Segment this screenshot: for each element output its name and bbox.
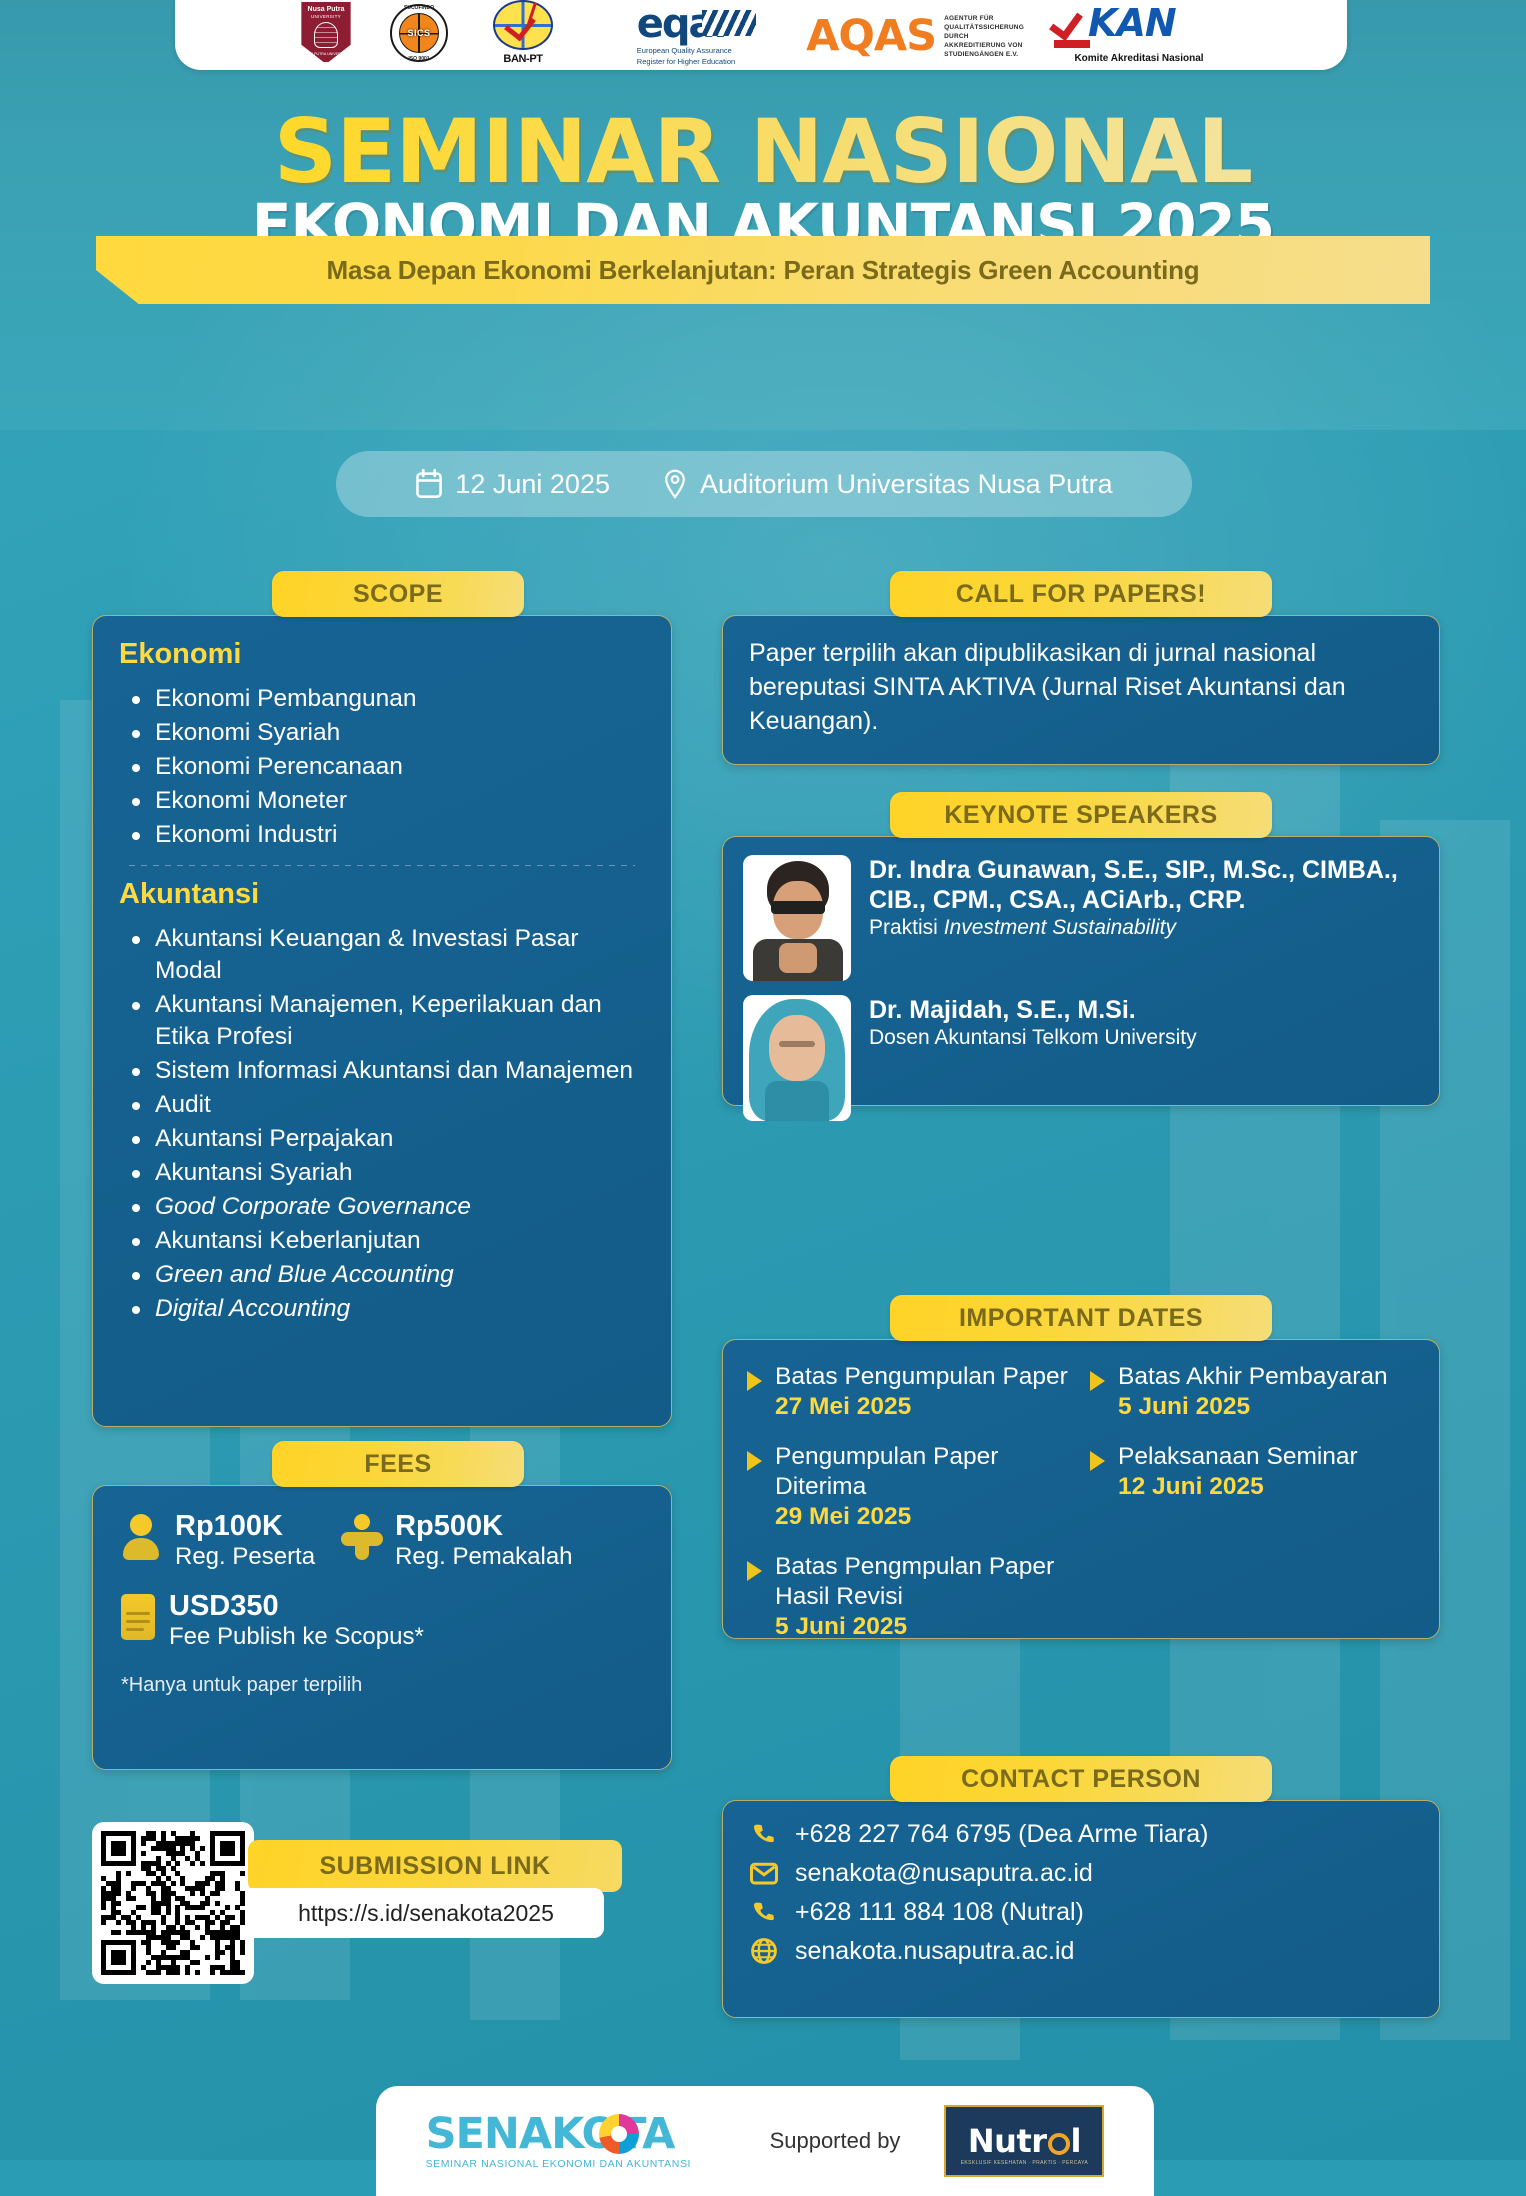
nusa-putra-ornament-icon [314, 22, 338, 48]
contact-item[interactable]: +628 111 884 108 (Nutral) [749, 1897, 1413, 1927]
eqar-sub1: European Quality Assurance [637, 46, 735, 55]
event-date-text: 12 Juni 2025 [455, 469, 610, 500]
footer-bar: SENAKOTA SEMINAR NASIONAL EKONOMI DAN AK… [376, 2086, 1154, 2196]
triangle-bullet-icon [1090, 1451, 1106, 1471]
submission-qr-code[interactable] [92, 1822, 254, 1984]
triangle-bullet-icon [747, 1371, 763, 1391]
fees-top-row: Rp100K Reg. Peserta Rp500K Reg. Pemakala… [121, 1510, 643, 1572]
contact-item[interactable]: +628 227 764 6795 (Dea Arme Tiara) [749, 1819, 1413, 1849]
ban-pt-logo-icon: BAN-PT [484, 0, 562, 64]
nutral-tagline: EKSKLUSIF KESEHATAN · PRAKTIS · PERCAYA [946, 2160, 1102, 2166]
sucofindo-top-text: SUCOFINDO [388, 5, 450, 11]
important-date-item: Batas Pengmpulan Paper Hasil Revisi5 Jun… [747, 1552, 1072, 1642]
scope-list-item: Ekonomi Moneter [119, 785, 645, 817]
scope-accounting-list: Akuntansi Keuangan & Investasi Pasar Mod… [119, 923, 645, 1325]
speaker-person-icon [341, 1514, 381, 1560]
speaker-2-avatar [743, 995, 851, 1121]
triangle-bullet-icon [747, 1451, 763, 1471]
kan-word: KAN [1088, 4, 1176, 42]
kan-logo-icon: KAN Komite Akreditasi Nasional [1054, 2, 1224, 64]
event-venue-text: Auditorium Universitas Nusa Putra [700, 469, 1113, 500]
supported-by-label: Supported by [770, 2128, 901, 2154]
keynote-speakers-card: Dr. Indra Gunawan, S.E., SIP., M.Sc., CI… [722, 836, 1440, 1106]
scope-pill-label: SCOPE [353, 580, 443, 609]
scope-list-item: Akuntansi Keuangan & Investasi Pasar Mod… [119, 923, 645, 987]
important-date-label: Batas Akhir Pembayaran [1118, 1362, 1388, 1392]
sucofindo-word: SICS [388, 28, 450, 38]
scope-list-item: Akuntansi Keberlanjutan [119, 1225, 645, 1257]
contact-value: +628 111 884 108 (Nutral) [795, 1898, 1084, 1927]
fees-card: Rp100K Reg. Peserta Rp500K Reg. Pemakala… [92, 1485, 672, 1770]
fee-label-peserta: Reg. Peserta [175, 1542, 315, 1572]
scope-list-item: Akuntansi Syariah [119, 1157, 645, 1189]
contact-item[interactable]: senakota.nusaputra.ac.id [749, 1936, 1413, 1966]
scope-section-pill: SCOPE [272, 571, 524, 617]
aqas-word: AQAS [806, 14, 936, 58]
scope-card: Ekonomi Ekonomi PembangunanEkonomi Syari… [92, 615, 672, 1427]
page-title: SEMINAR NASIONAL [0, 110, 1526, 194]
important-date-label: Batas Pengumpulan Paper [775, 1362, 1068, 1392]
scope-list-item: Audit [119, 1089, 645, 1121]
important-date-item: Batas Pengumpulan Paper27 Mei 2025 [747, 1362, 1072, 1422]
kan-sub: Komite Akreditasi Nasional [1054, 53, 1224, 64]
phone-icon [749, 1819, 779, 1849]
important-date-value: 5 Juni 2025 [775, 1612, 1072, 1642]
important-dates-pill-label: IMPORTANT DATES [959, 1304, 1203, 1333]
triangle-bullet-icon [747, 1561, 763, 1581]
id-card-icon [121, 1594, 155, 1640]
event-date-item: 12 Juni 2025 [415, 469, 610, 500]
important-date-value: 29 Mei 2025 [775, 1502, 1072, 1532]
eqar-sub2: Register for Higher Education [637, 57, 735, 66]
speaker-1-role-prefix: Praktisi [869, 916, 944, 939]
scope-list-item: Sistem Informasi Akuntansi dan Manajemen [119, 1055, 645, 1087]
submission-link-pill: SUBMISSION LINK [248, 1840, 622, 1892]
important-date-label: Pengumpulan Paper Diterima [775, 1442, 1072, 1502]
speaker-1-role-italic: Investment Sustainability [944, 916, 1176, 939]
speaker-2-name: Dr. Majidah, S.E., M.Si. [869, 995, 1197, 1025]
important-date-value: 5 Juni 2025 [1118, 1392, 1388, 1422]
scope-group1-title: Ekonomi [119, 638, 645, 671]
fee-label-scopus: Fee Publish ke Scopus* [169, 1622, 424, 1652]
contact-person-pill: CONTACT PERSON [890, 1756, 1272, 1802]
eqar-logo-icon: eqar European Quality Assurance Register… [596, 6, 776, 64]
calendar-icon [415, 469, 443, 499]
fee-item-scopus: USD350 Fee Publish ke Scopus* [121, 1590, 424, 1652]
contact-value: senakota.nusaputra.ac.id [795, 1937, 1074, 1966]
accreditation-logo-bar: Nusa Putra UNIVERSITY NUSA PUTRA UNIVERS… [175, 0, 1347, 70]
important-dates-left-column: Batas Pengumpulan Paper27 Mei 2025Pengum… [747, 1362, 1072, 1642]
important-dates-pill: IMPORTANT DATES [890, 1295, 1272, 1341]
theme-ribbon: Masa Depan Ekonomi Berkelanjutan: Peran … [96, 236, 1430, 304]
call-for-papers-card: Paper terpilih akan dipublikasikan di ju… [722, 615, 1440, 765]
scope-list-item: Akuntansi Manajemen, Keperilakuan dan Et… [119, 989, 645, 1053]
scope-list-item: Green and Blue Accounting [119, 1259, 645, 1291]
phone-icon [749, 1897, 779, 1927]
event-venue-item: Auditorium Universitas Nusa Putra [662, 469, 1113, 500]
fee-item-pemakalah: Rp500K Reg. Pemakalah [341, 1510, 572, 1572]
submission-url-box[interactable]: https://s.id/senakota2025 [248, 1888, 604, 1938]
fees-note: *Hanya untuk paper terpilih [121, 1674, 643, 1697]
nutral-word-part2: l [1071, 2122, 1081, 2160]
scope-economy-list: Ekonomi PembangunanEkonomi SyariahEkonom… [119, 683, 645, 851]
contact-value: +628 227 764 6795 (Dea Arme Tiara) [795, 1820, 1208, 1849]
sucofindo-sics-logo-icon: SUCOFINDO SICS ISO 9001 [388, 2, 450, 64]
sucofindo-bottom-text: ISO 9001 [388, 56, 450, 62]
fee-item-peserta: Rp100K Reg. Peserta [121, 1510, 315, 1572]
contact-value: senakota@nusaputra.ac.id [795, 1859, 1093, 1888]
aqas-sub4: STUDIENGÄNGEN E.V. [944, 50, 1024, 59]
keynote-speakers-pill: KEYNOTE SPEAKERS [890, 792, 1272, 838]
fee-label-pemakalah: Reg. Pemakalah [395, 1542, 572, 1572]
important-date-item: Batas Akhir Pembayaran5 Juni 2025 [1090, 1362, 1415, 1422]
person-icon [121, 1514, 161, 1560]
location-pin-icon [662, 469, 688, 499]
submission-url-text: https://s.id/senakota2025 [298, 1900, 554, 1927]
scope-group2-title: Akuntansi [119, 878, 645, 911]
nusa-putra-university-logo-icon: Nusa Putra UNIVERSITY NUSA PUTRA UNIVERS… [298, 0, 354, 64]
keynote-speaker-1: Dr. Indra Gunawan, S.E., SIP., M.Sc., CI… [743, 855, 1419, 981]
globe-icon [749, 1936, 779, 1966]
fees-section-pill: FEES [272, 1441, 524, 1487]
fee-amount-peserta: Rp100K [175, 1510, 315, 1542]
contact-person-card: +628 227 764 6795 (Dea Arme Tiara)senako… [722, 1800, 1440, 2018]
fee-amount-pemakalah: Rp500K [395, 1510, 572, 1542]
contact-item[interactable]: senakota@nusaputra.ac.id [749, 1858, 1413, 1888]
scope-list-item: Ekonomi Pembangunan [119, 683, 645, 715]
important-date-label: Batas Pengmpulan Paper Hasil Revisi [775, 1552, 1072, 1612]
call-for-papers-pill: CALL FOR PAPERS! [890, 571, 1272, 617]
scope-divider [129, 865, 635, 866]
senakota-logo-word: SENAKOTA [426, 2112, 726, 2156]
aqas-sub3: AKKREDITIERUNG VON [944, 41, 1024, 50]
fees-bottom-row: USD350 Fee Publish ke Scopus* [121, 1590, 643, 1652]
aqas-logo-icon: AQAS AGENTUR FÜR QUALITÄTSSICHERUNG DURC… [810, 8, 1020, 64]
call-for-papers-pill-label: CALL FOR PAPERS! [956, 580, 1206, 609]
important-dates-right-column: Batas Akhir Pembayaran5 Juni 2025Pelaksa… [1090, 1362, 1415, 1642]
scope-list-item: Good Corporate Governance [119, 1191, 645, 1223]
speaker-1-role: Praktisi Investment Sustainability [869, 915, 1419, 941]
ban-pt-word: BAN-PT [484, 53, 562, 65]
aqas-sub2: QUALITÄTSSICHERUNG DURCH [944, 23, 1024, 41]
call-for-papers-text: Paper terpilih akan dipublikasikan di ju… [749, 636, 1413, 738]
contact-pill-label: CONTACT PERSON [961, 1765, 1201, 1794]
important-date-value: 27 Mei 2025 [775, 1392, 1068, 1422]
important-dates-card: Batas Pengumpulan Paper27 Mei 2025Pengum… [722, 1339, 1440, 1639]
nusa-putra-line3: NUSA PUTRA UNIVERSITY [298, 52, 354, 56]
scope-list-item: Ekonomi Industri [119, 819, 645, 851]
speaker-2-role: Dosen Akuntansi Telkom University [869, 1025, 1197, 1051]
submission-pill-label: SUBMISSION LINK [319, 1852, 550, 1881]
mail-icon [749, 1858, 779, 1888]
nutral-word-part1: Nutr [968, 2122, 1047, 2160]
senakota-donut-icon [599, 2114, 639, 2154]
nutral-sponsor-logo: Nutrl EKSKLUSIF KESEHATAN · PRAKTIS · PE… [944, 2105, 1104, 2177]
speaker-1-avatar [743, 855, 851, 981]
important-date-item: Pelaksanaan Seminar12 Juni 2025 [1090, 1442, 1415, 1502]
nutral-circle-icon [1048, 2133, 1070, 2155]
fees-pill-label: FEES [364, 1450, 431, 1479]
triangle-bullet-icon [1090, 1371, 1106, 1391]
speaker-1-name: Dr. Indra Gunawan, S.E., SIP., M.Sc., CI… [869, 855, 1419, 915]
scope-list-item: Ekonomi Perencanaan [119, 751, 645, 783]
aqas-sub1: AGENTUR FÜR [944, 14, 1024, 23]
theme-ribbon-text: Masa Depan Ekonomi Berkelanjutan: Peran … [327, 255, 1200, 286]
event-date-venue-pill: 12 Juni 2025 Auditorium Universitas Nusa… [336, 451, 1192, 517]
important-date-item: Pengumpulan Paper Diterima29 Mei 2025 [747, 1442, 1072, 1532]
scope-list-item: Akuntansi Perpajakan [119, 1123, 645, 1155]
nusa-putra-line1: Nusa Putra [298, 6, 354, 13]
poster-title-block: SEMINAR NASIONAL EKONOMI DAN AKUNTANSI 2… [0, 110, 1526, 256]
keynote-pill-label: KEYNOTE SPEAKERS [944, 801, 1217, 830]
scope-list-item: Ekonomi Syariah [119, 717, 645, 749]
fee-amount-scopus: USD350 [169, 1590, 424, 1622]
important-date-label: Pelaksanaan Seminar [1118, 1442, 1358, 1472]
keynote-speaker-2: Dr. Majidah, S.E., M.Si. Dosen Akuntansi… [743, 995, 1419, 1121]
scope-list-item: Digital Accounting [119, 1293, 645, 1325]
senakota-logo: SENAKOTA SEMINAR NASIONAL EKONOMI DAN AK… [426, 2112, 726, 2170]
important-date-value: 12 Juni 2025 [1118, 1472, 1358, 1502]
nusa-putra-line2: UNIVERSITY [298, 14, 354, 19]
